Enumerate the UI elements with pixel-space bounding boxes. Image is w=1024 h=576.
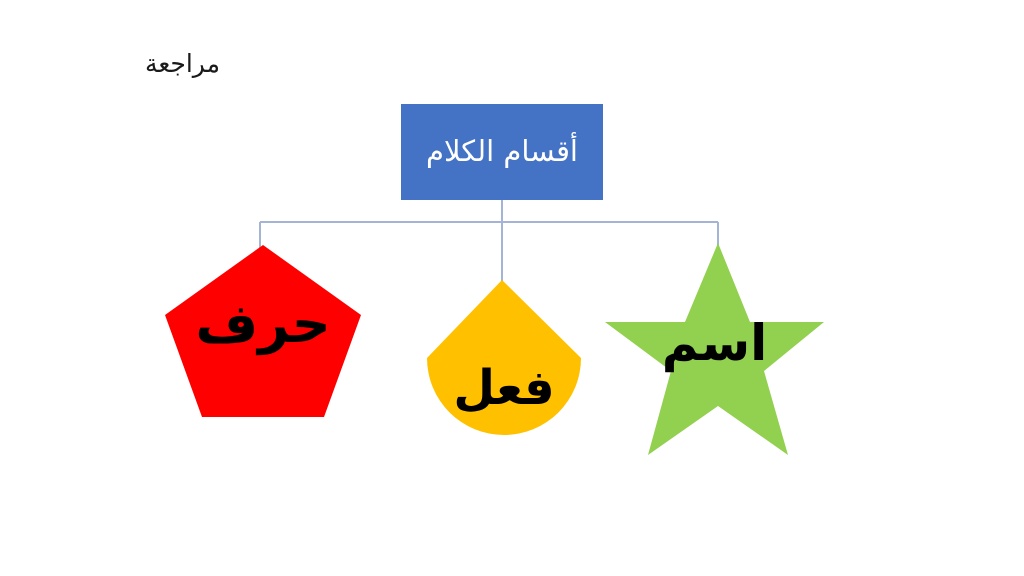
slide-canvas: مراجعة أقسام الكلام حرف فعل اسم: [0, 0, 1024, 576]
node-ism-star[interactable]: اسم: [605, 243, 824, 457]
node-ism-label: اسم: [605, 318, 824, 368]
node-fil-label: فعل: [427, 364, 581, 412]
node-harf-label: حرف: [165, 297, 361, 351]
node-parts-of-speech[interactable]: أقسام الكلام: [401, 104, 603, 200]
node-fil-teardrop[interactable]: فعل: [427, 280, 581, 472]
node-harf-pentagon[interactable]: حرف: [165, 245, 361, 417]
node-parts-of-speech-label: أقسام الكلام: [426, 136, 578, 168]
